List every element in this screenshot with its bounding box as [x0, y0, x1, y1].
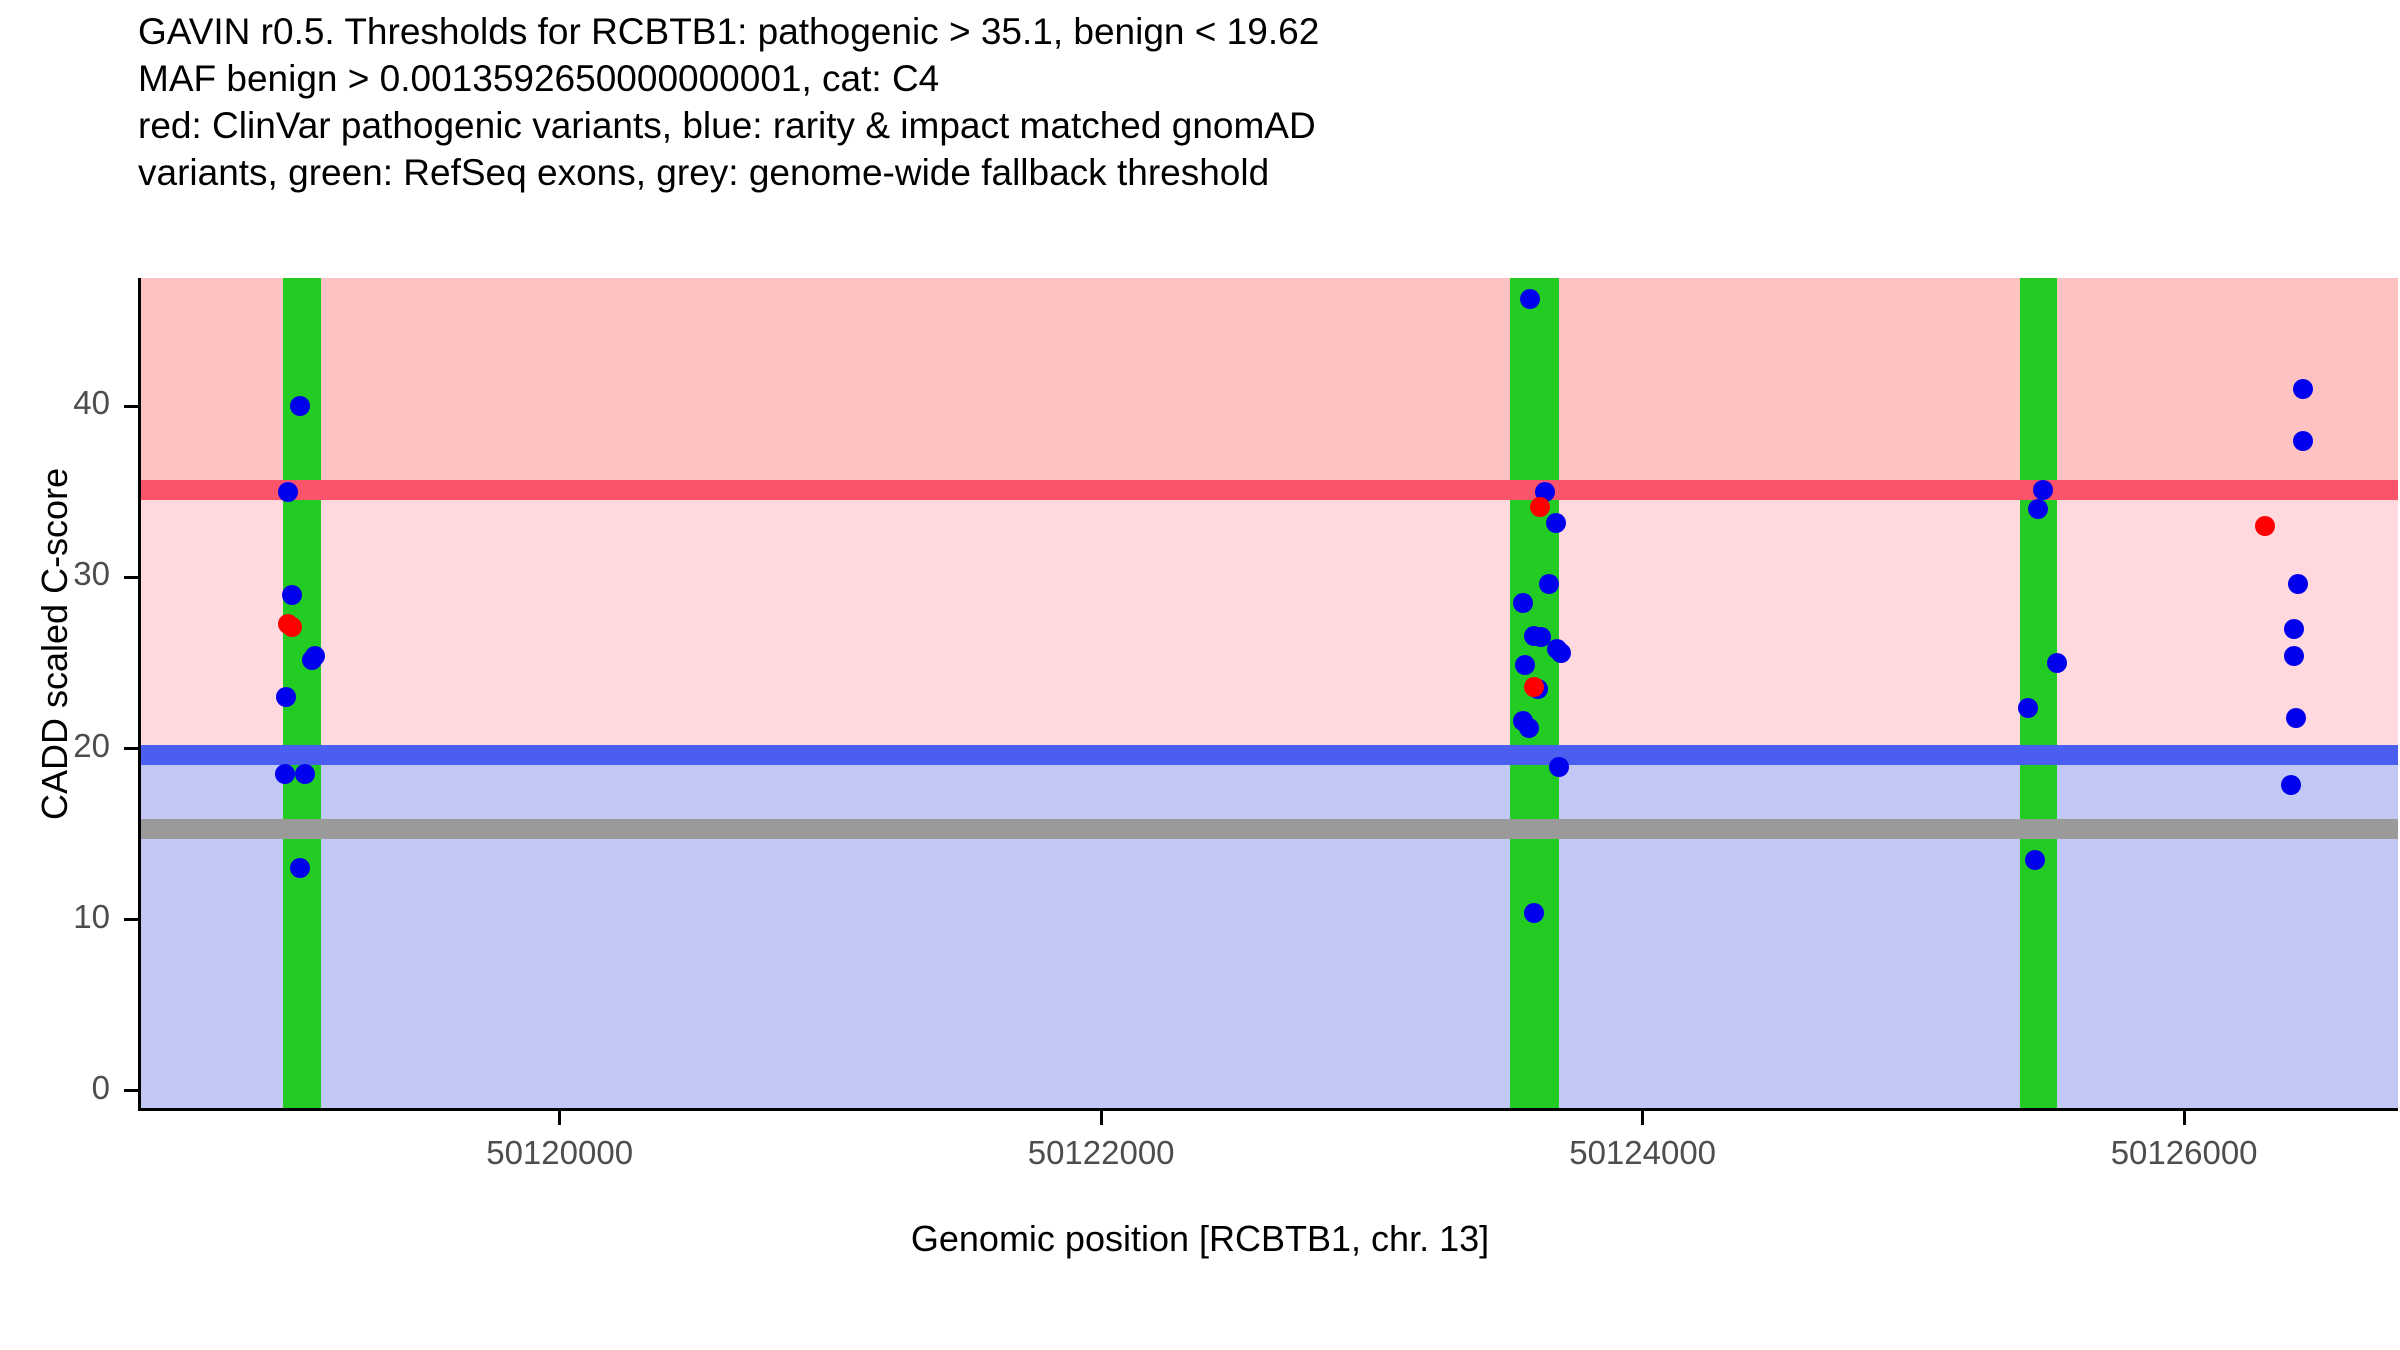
- gnomad-point: [275, 764, 295, 784]
- x-tick: [2183, 1111, 2186, 1125]
- band-benign: [140, 755, 2398, 1108]
- gnomad-point: [302, 650, 322, 670]
- x-axis-line: [138, 1108, 2398, 1111]
- y-tick-label: 0: [0, 1069, 110, 1107]
- clinvar-point: [1530, 497, 1550, 517]
- title-line-2: MAF benign > 0.0013592650000000001, cat:…: [138, 55, 2338, 102]
- gnomad-point: [2284, 646, 2304, 666]
- x-axis-label: Genomic position [RCBTB1, chr. 13]: [0, 1218, 2400, 1260]
- gnomad-point: [2028, 499, 2048, 519]
- exon-band: [2020, 278, 2057, 1108]
- y-tick: [124, 747, 138, 750]
- x-tick-label: 50124000: [1569, 1134, 1716, 1172]
- y-tick-label: 40: [0, 384, 110, 422]
- gnomad-point: [1546, 513, 1566, 533]
- fallback-threshold-line: [140, 819, 2398, 839]
- x-tick: [558, 1111, 561, 1125]
- x-tick-label: 50122000: [1028, 1134, 1175, 1172]
- y-tick: [124, 1089, 138, 1092]
- gnomad-point: [290, 396, 310, 416]
- title-line-4: variants, green: RefSeq exons, grey: gen…: [138, 149, 2338, 196]
- gnomad-point: [278, 482, 298, 502]
- gnomad-point: [2018, 698, 2038, 718]
- band-ambiguous: [140, 490, 2398, 755]
- y-axis-line: [138, 278, 141, 1108]
- gnomad-point: [282, 585, 302, 605]
- x-tick: [1100, 1111, 1103, 1125]
- y-tick-label: 10: [0, 898, 110, 936]
- y-axis-label: CADD scaled C-score: [34, 468, 76, 820]
- pathogenic-threshold-line: [140, 480, 2398, 500]
- gnomad-point: [2293, 431, 2313, 451]
- gnomad-point: [2025, 850, 2045, 870]
- title-line-3: red: ClinVar pathogenic variants, blue: …: [138, 102, 2338, 149]
- benign-threshold-line: [140, 745, 2398, 765]
- gnomad-point: [2047, 653, 2067, 673]
- y-tick: [124, 918, 138, 921]
- plot-title-block: GAVIN r0.5. Thresholds for RCBTB1: patho…: [138, 8, 2338, 196]
- x-tick-label: 50120000: [486, 1134, 633, 1172]
- clinvar-point: [282, 617, 302, 637]
- title-line-1: GAVIN r0.5. Thresholds for RCBTB1: patho…: [138, 8, 2338, 55]
- gnomad-point: [2284, 619, 2304, 639]
- x-tick: [1641, 1111, 1644, 1125]
- gnomad-point: [2281, 775, 2301, 795]
- x-tick-label: 50126000: [2111, 1134, 2258, 1172]
- y-tick: [124, 405, 138, 408]
- gnomad-point: [1515, 655, 1535, 675]
- y-tick: [124, 576, 138, 579]
- gnomad-point: [1520, 289, 1540, 309]
- plot-panel: [140, 278, 2398, 1108]
- gnomad-point: [1519, 718, 1539, 738]
- plot-root: GAVIN r0.5. Thresholds for RCBTB1: patho…: [0, 0, 2400, 1350]
- band-pathogenic: [140, 278, 2398, 490]
